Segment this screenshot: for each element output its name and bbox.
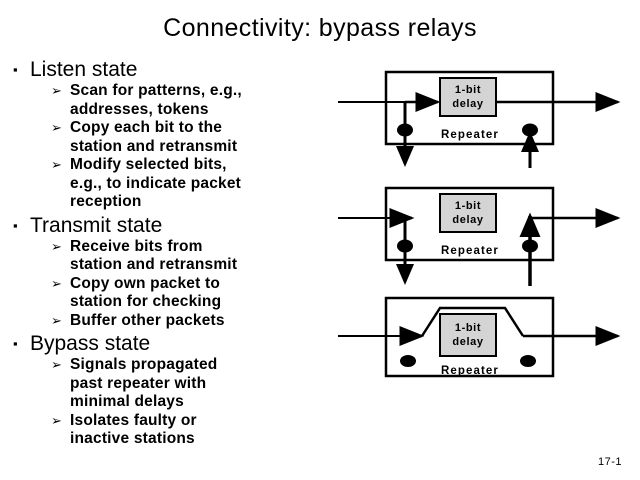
sub-bullet-arrow-icon: ➢ [51,356,62,375]
list-item-line: inactive stations [70,430,348,449]
list-item-line: station for checking [70,293,348,312]
delay-label-line2: delay [452,98,483,110]
diagram-transmit-state: 1-bit delay Repeater [330,180,630,292]
relay-contact-right [522,240,538,253]
bullet-marker-icon: ▪ [13,331,18,356]
sub-bullet-list: ➢ Receive bits from station and retransm… [8,238,348,331]
delay-label-line1: 1-bit [455,322,481,334]
sub-bullet-arrow-icon: ➢ [51,82,62,101]
section-bypass-state: ▪ Bypass state ➢ Signals propagated past… [8,331,348,449]
section-heading: ▪ Listen state [8,57,348,82]
sub-bullet-list: ➢ Scan for patterns, e.g., addresses, to… [8,82,348,212]
slide-canvas: Connectivity: bypass relays ▪ Listen sta… [0,0,640,480]
delay-label-line2: delay [452,336,483,348]
list-item: ➢ Receive bits from station and retransm… [8,238,348,275]
section-heading: ▪ Transmit state [8,213,348,238]
page-title: Connectivity: bypass relays [0,14,640,43]
sub-bullet-arrow-icon: ➢ [51,275,62,294]
list-item-line: Copy each bit to the [70,119,348,138]
list-item-line: minimal delays [70,393,348,412]
list-item-line: e.g., to indicate packet [70,175,348,194]
list-item-line: Copy own packet to [70,275,348,294]
sub-bullet-list: ➢ Signals propagated past repeater with … [8,356,348,449]
list-item-line: addresses, tokens [70,101,348,120]
sub-bullet-arrow-icon: ➢ [51,312,62,331]
list-item-line: station and retransmit [70,256,348,275]
delay-label-line1: 1-bit [455,84,481,96]
sub-bullet-arrow-icon: ➢ [51,412,62,431]
bullet-marker-icon: ▪ [13,57,18,82]
section-heading: ▪ Bypass state [8,331,348,356]
list-item: ➢ Signals propagated past repeater with … [8,356,348,412]
list-item-line: past repeater with [70,375,348,394]
list-item-line: reception [70,193,348,212]
list-item-line: Modify selected bits, [70,156,348,175]
diagram-column: 1-bit delay Repeater [330,56,635,396]
section-transmit-state: ▪ Transmit state ➢ Receive bits from sta… [8,213,348,331]
delay-box [440,314,496,356]
list-item: ➢ Copy own packet to station for checkin… [8,275,348,312]
list-item: ➢ Scan for patterns, e.g., addresses, to… [8,82,348,119]
relay-contact-left [397,124,413,137]
relay-contact-right [522,124,538,137]
section-heading-label: Transmit state [30,214,162,237]
repeater-label: Repeater [441,245,499,257]
page-number: 17-1 [598,456,622,468]
bullet-content-column: ▪ Listen state ➢ Scan for patterns, e.g.… [8,56,348,449]
section-heading-label: Listen state [30,58,137,81]
repeater-label: Repeater [441,129,499,141]
diagram-listen-state: 1-bit delay Repeater [330,56,630,171]
sub-bullet-arrow-icon: ➢ [51,238,62,257]
relay-contact-right [520,355,536,367]
sub-bullet-arrow-icon: ➢ [51,119,62,138]
list-item-line: Receive bits from [70,238,348,257]
list-item: ➢ Copy each bit to the station and retra… [8,119,348,156]
relay-contact-left [400,355,416,367]
section-listen-state: ▪ Listen state ➢ Scan for patterns, e.g.… [8,57,348,212]
diagram-bypass-state: 1-bit delay Repeater [330,292,630,388]
list-item: ➢ Isolates faulty or inactive stations [8,412,348,449]
list-item-line: Signals propagated [70,356,348,375]
delay-label-line2: delay [452,214,483,226]
relay-contact-left [397,240,413,253]
list-item-line: Buffer other packets [70,312,348,331]
bullet-marker-icon: ▪ [13,213,18,238]
delay-label-line1: 1-bit [455,200,481,212]
section-heading-label: Bypass state [30,332,150,355]
list-item: ➢ Buffer other packets [8,312,348,331]
repeater-label: Repeater [441,365,499,377]
list-item: ➢ Modify selected bits, e.g., to indicat… [8,156,348,212]
sub-bullet-arrow-icon: ➢ [51,156,62,175]
list-item-line: Scan for patterns, e.g., [70,82,348,101]
list-item-line: Isolates faulty or [70,412,348,431]
list-item-line: station and retransmit [70,138,348,157]
